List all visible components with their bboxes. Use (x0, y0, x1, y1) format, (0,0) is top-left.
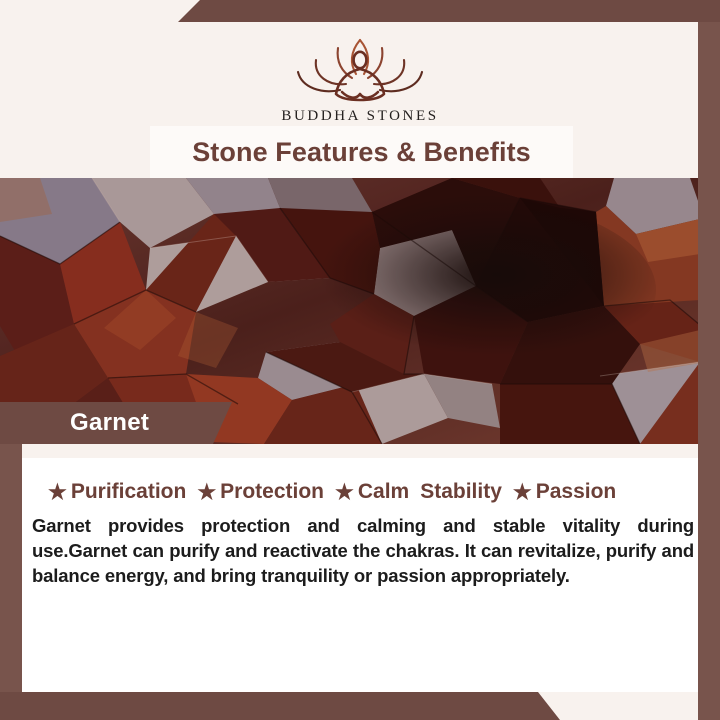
frame-top-bar (0, 0, 720, 22)
benefit-label: Calm (358, 480, 409, 504)
star-icon: ★ (335, 482, 354, 503)
brand-wordmark: BUDDHA STONES (281, 108, 438, 125)
title-banner: Stone Features & Benefits (150, 126, 573, 178)
benefit-label: Stability (420, 480, 502, 504)
star-icon: ★ (513, 482, 532, 503)
benefit-item: ★ Passion (513, 480, 616, 504)
stone-name-tag: Garnet (0, 402, 232, 444)
benefit-label: Passion (536, 480, 617, 504)
benefit-item: ★ Purification (48, 480, 186, 504)
stone-description: Garnet provides protection and calming a… (32, 514, 694, 589)
star-icon: ★ (197, 482, 216, 503)
benefit-item: ★ Calm (335, 480, 409, 504)
page-title: Stone Features & Benefits (192, 137, 531, 168)
content-divider-strip (22, 444, 698, 458)
content-panel: ★ Purification ★ Protection ★ Calm Stabi… (22, 458, 698, 692)
lotus-meditation-figure-icon (280, 32, 440, 108)
frame-bottom-bar (0, 692, 720, 720)
stone-name-label: Garnet (70, 409, 149, 437)
benefit-item: ★ Protection (197, 480, 324, 504)
benefits-list: ★ Purification ★ Protection ★ Calm Stabi… (48, 480, 688, 504)
stone-features-infographic: BUDDHA STONES Stone Features & Benefits (0, 0, 720, 720)
benefit-item: Stability (420, 480, 502, 504)
star-icon: ★ (48, 482, 67, 503)
benefit-label: Purification (71, 480, 187, 504)
frame-right-bar (698, 0, 720, 720)
benefit-label: Protection (220, 480, 324, 504)
frame-left-bar (0, 440, 22, 720)
